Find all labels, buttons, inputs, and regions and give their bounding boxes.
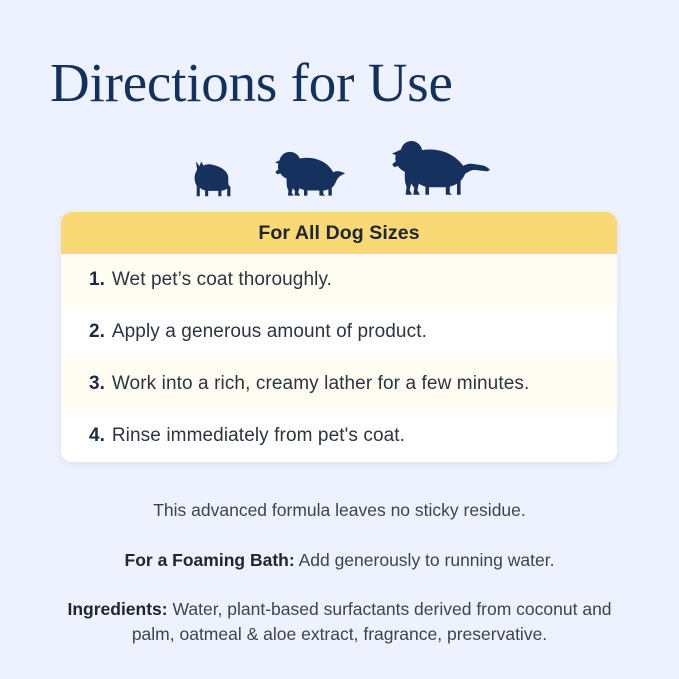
formula-note: This advanced formula leaves no sticky r…: [0, 498, 679, 522]
list-item: 4. Rinse immediately from pet's coat.: [61, 410, 617, 462]
step-text: Wet pet’s coat thoroughly.: [112, 269, 332, 291]
card-header-label: For All Dog Sizes: [258, 222, 419, 245]
page-title: Directions for Use: [50, 52, 453, 114]
steps-list: 1. Wet pet’s coat thoroughly. 2. Apply a…: [61, 254, 617, 462]
step-number: 4.: [89, 425, 105, 447]
ingredients-text: Water, plant-based surfactants derived f…: [132, 599, 612, 644]
large-dog-silhouette-icon: [387, 140, 491, 198]
medium-dog-silhouette-icon: [271, 150, 353, 198]
directions-card: For All Dog Sizes 1. Wet pet’s coat thor…: [61, 212, 617, 462]
dog-size-illustration-group: [0, 136, 679, 198]
directions-for-use-panel: Directions for Use For All Dog Sizes 1.: [0, 0, 679, 679]
ingredients-note: Ingredients: Water, plant-based surfacta…: [0, 597, 679, 647]
footer-notes: This advanced formula leaves no sticky r…: [0, 498, 679, 647]
foaming-bath-text: Add generously to running water.: [299, 550, 555, 570]
list-item: 2. Apply a generous amount of product.: [61, 306, 617, 358]
foaming-bath-label: For a Foaming Bath:: [125, 550, 295, 570]
step-text: Work into a rich, creamy lather for a fe…: [112, 373, 530, 395]
step-text: Rinse immediately from pet's coat.: [112, 425, 405, 447]
list-item: 1. Wet pet’s coat thoroughly.: [61, 254, 617, 306]
card-header: For All Dog Sizes: [61, 212, 617, 254]
small-dog-silhouette-icon: [189, 160, 237, 198]
step-number: 1.: [89, 269, 105, 291]
ingredients-label: Ingredients:: [67, 599, 167, 619]
step-number: 2.: [89, 321, 105, 343]
step-number: 3.: [89, 373, 105, 395]
list-item: 3. Work into a rich, creamy lather for a…: [61, 358, 617, 410]
foaming-bath-note: For a Foaming Bath: Add generously to ru…: [0, 548, 679, 572]
step-text: Apply a generous amount of product.: [112, 321, 427, 343]
